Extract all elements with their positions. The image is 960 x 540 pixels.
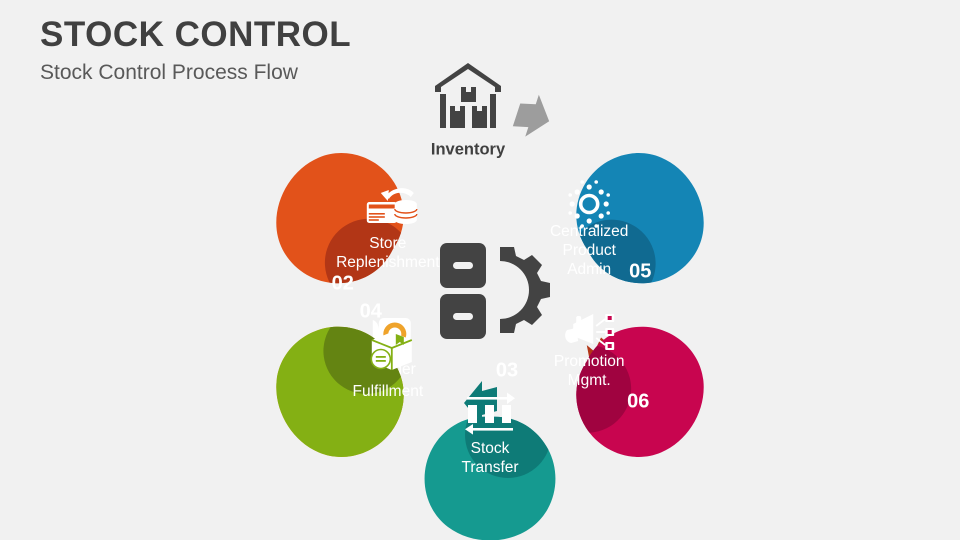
petal-04-number: 04: [360, 300, 383, 322]
warehouse-icon: [435, 63, 501, 128]
megaphone-icon: [565, 314, 614, 350]
petal-06-label-line2: Mgmt.: [568, 372, 611, 389]
petal-04-label: Fulfillment: [352, 383, 423, 400]
center-hub: [440, 243, 550, 339]
inventory-node: Inventory: [431, 63, 506, 158]
slide-canvas: STOCK CONTROL Stock Control Process Flow: [0, 0, 960, 540]
petal-03-label-line1: Stock: [471, 440, 510, 457]
petal-05-label-line3: Admin: [567, 261, 611, 278]
boxes-gear-icon: [440, 243, 550, 339]
petal-05-label-line2: Product: [562, 242, 616, 259]
arrow-inventory-to-01: [511, 90, 556, 142]
petal-step-03[interactable]: Stock Transfer 03: [425, 359, 556, 540]
petal-06-number: 06: [627, 390, 649, 412]
inventory-label: Inventory: [431, 140, 506, 158]
petal-02-label-line2: Replenishment: [336, 254, 440, 271]
page-title: STOCK CONTROL: [40, 16, 351, 55]
petal-06-label-line1: Promotion: [554, 353, 625, 370]
petal-03-number: 03: [496, 359, 518, 381]
petal-02-number: 02: [332, 272, 354, 294]
petal-02-label-line1: Store: [369, 235, 406, 252]
stock-transfer-icon: [465, 393, 515, 435]
petal-05-label-line1: Centralized: [550, 223, 628, 240]
petal-03-label-line2: Transfer: [461, 459, 518, 476]
petal-05-number: 05: [629, 260, 651, 282]
process-flow-diagram: Reorder 01: [220, 70, 760, 540]
